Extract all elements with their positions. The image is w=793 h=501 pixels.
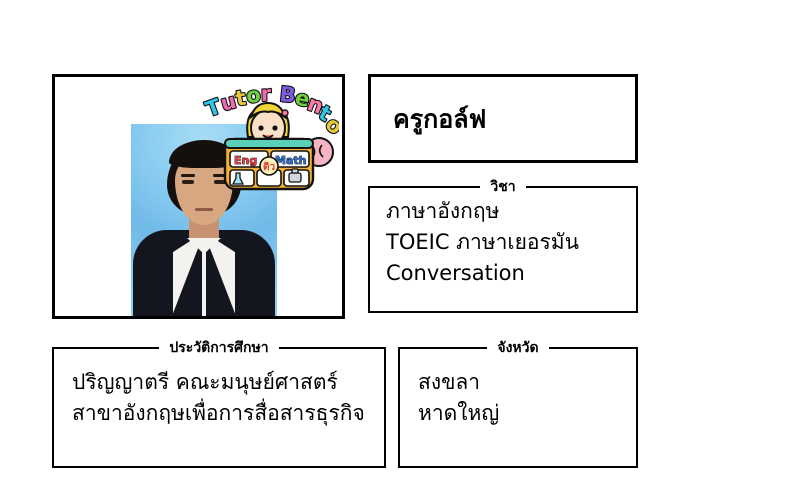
subject-line: Conversation	[386, 258, 620, 289]
education-body: ปริญญาตรี คณะมนุษย์ศาสตร์ สาขาอังกฤษเพื่…	[54, 355, 384, 437]
province-line: สงขลา	[418, 367, 618, 398]
education-line: ปริญญาตรี คณะมนุษย์ศาสตร์	[72, 367, 366, 398]
svg-text:ติว: ติว	[263, 161, 275, 173]
subject-line: TOEIC ภาษาเยอรมัน	[386, 227, 620, 258]
portrait-brow-left	[181, 174, 195, 177]
education-legend: ประวัติการศึกษา	[159, 341, 278, 355]
tutor-name-panel: ครูกอล์ฟ	[368, 74, 638, 163]
province-panel: จังหวัด สงขลา หาดใหญ่	[398, 341, 638, 468]
tutor-name: ครูกอล์ฟ	[393, 105, 486, 133]
province-legend: จังหวัด	[487, 341, 548, 355]
education-panel: ประวัติการศึกษา ปริญญาตรี คณะมนุษย์ศาสตร…	[52, 341, 386, 468]
subject-body: ภาษาอังกฤษ TOEIC ภาษาเยอรมัน Conversatio…	[370, 194, 636, 297]
subject-line: ภาษาอังกฤษ	[386, 196, 620, 227]
province-line: หาดใหญ่	[418, 398, 618, 429]
svg-text:Math: Math	[275, 154, 306, 167]
svg-text:Eng: Eng	[234, 154, 257, 167]
subject-legend: วิชา	[480, 180, 525, 194]
subject-panel: วิชา ภาษาอังกฤษ TOEIC ภาษาเยอรมัน Conver…	[368, 180, 638, 313]
tutor-profile-card: T u t o r B e n t o	[0, 0, 793, 501]
portrait-mouth	[195, 208, 213, 211]
education-line: สาขาอังกฤษเพื่อการสื่อสารธุรกิจ	[72, 398, 366, 429]
province-body: สงขลา หาดใหญ่	[400, 355, 636, 437]
tutor-bento-logo: T u t o r B e n t o	[201, 81, 339, 193]
photo-panel: T u t o r B e n t o	[52, 74, 345, 319]
